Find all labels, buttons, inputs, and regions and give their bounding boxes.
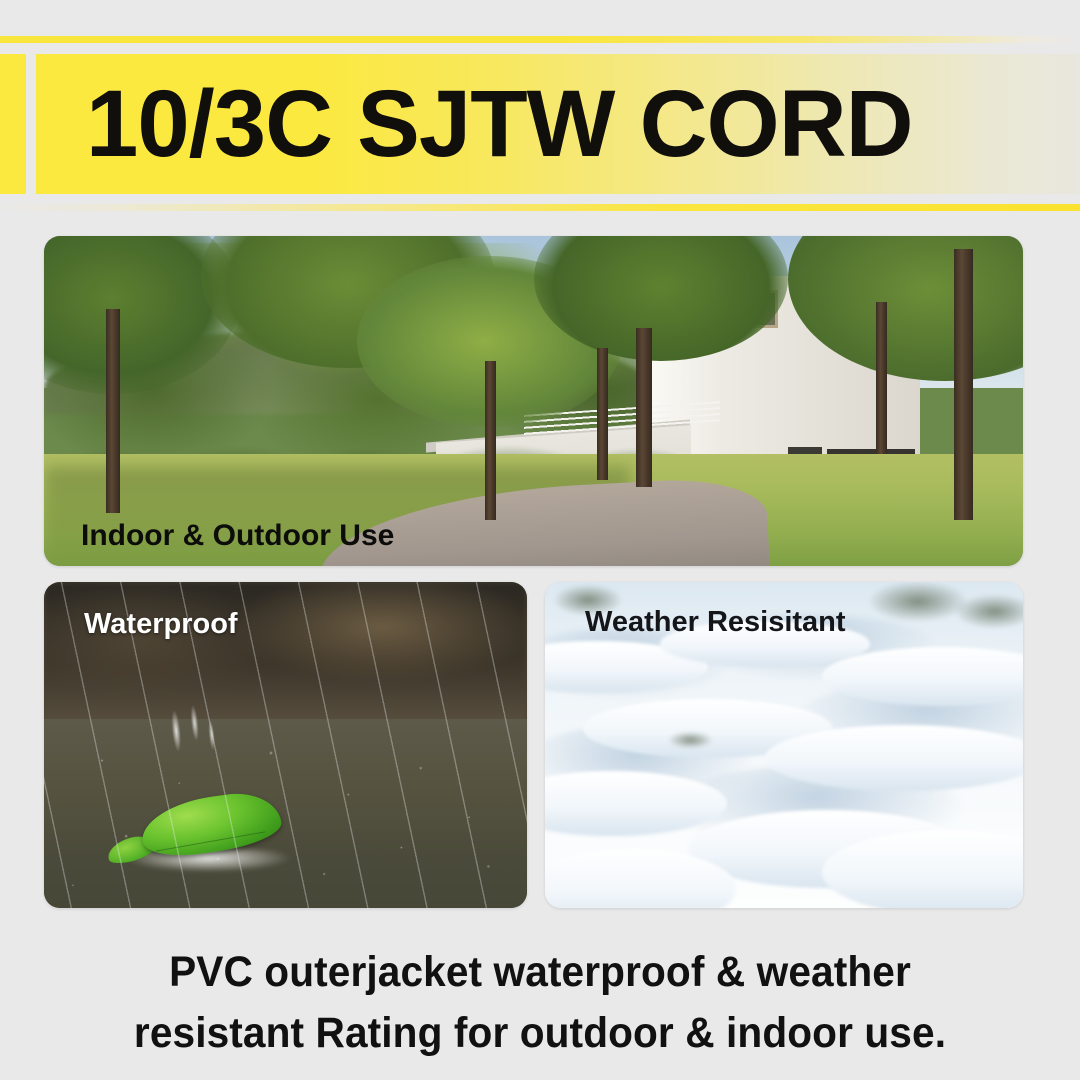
snow-debris <box>956 595 1023 628</box>
tree-trunk <box>485 361 497 519</box>
title-accent-bar <box>0 54 26 194</box>
panel-weather-resistant[interactable]: Weather Resisitant <box>545 582 1023 908</box>
panel-caption-waterproof: Waterproof <box>84 608 238 641</box>
snow-drift <box>765 725 1023 790</box>
snow-debris <box>870 582 966 621</box>
tree-trunk <box>876 302 887 454</box>
tree-trunk <box>597 348 608 480</box>
bottom-yellow-rule <box>0 204 1080 211</box>
tree-trunk <box>636 328 652 486</box>
header-region: 10/3C SJTW CORD <box>0 0 1080 232</box>
panel-caption-indoor-outdoor: Indoor & Outdoor Use <box>81 519 394 553</box>
panel-indoor-outdoor[interactable]: Indoor & Outdoor Use <box>44 236 1023 566</box>
panel-waterproof[interactable]: Waterproof <box>44 582 527 908</box>
tree-trunk <box>954 249 973 520</box>
tree-trunk <box>106 309 121 514</box>
top-yellow-rule <box>0 36 1080 43</box>
footer-line-2: resistant Rating for outdoor & indoor us… <box>30 1003 1051 1064</box>
panel-caption-weather-resistant: Weather Resisitant <box>585 606 846 639</box>
footer-description: PVC outerjacket waterproof & weather res… <box>30 942 1051 1064</box>
title-banner: 10/3C SJTW CORD <box>36 54 1080 194</box>
outdoor-scene-art <box>44 236 1023 566</box>
footer-line-1: PVC outerjacket waterproof & weather <box>30 942 1051 1003</box>
page-title: 10/3C SJTW CORD <box>86 77 913 172</box>
